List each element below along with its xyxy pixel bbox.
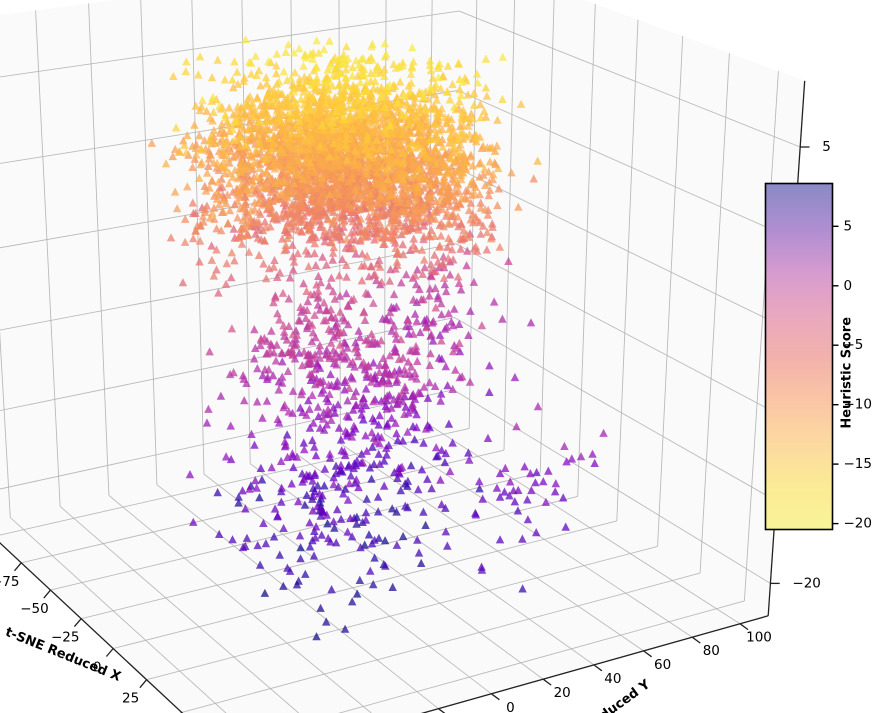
y-tick-label: 40 (604, 671, 621, 687)
x-tick-label: 25 (122, 691, 139, 707)
axis-tick (140, 680, 147, 688)
colorbar-gradient (766, 184, 833, 530)
z-tick-label: −20 (792, 575, 821, 591)
colorbar-tick-label: −20 (844, 516, 873, 532)
colorbar-tick-label: −15 (844, 456, 873, 472)
axis-tick (106, 649, 113, 657)
z-tick-label: 5 (822, 139, 831, 155)
x-tick-label: −75 (0, 574, 19, 590)
axis-tick (15, 563, 22, 571)
colorbar[interactable]: 50−5−10−15−20 (766, 184, 873, 532)
axis-tick (692, 637, 700, 643)
colorbar-tick-label: −5 (844, 337, 864, 353)
colorbar-tick-label: 0 (844, 278, 853, 294)
y-tick-label: 60 (654, 657, 671, 673)
axis-tick (543, 679, 551, 685)
colorbar-tick-label: 5 (844, 218, 853, 234)
colorbar-ticks (833, 226, 839, 523)
axis-tick (44, 590, 51, 598)
axis-tick (74, 619, 81, 627)
y-tick-label: 100 (746, 630, 772, 646)
axis-tick (491, 694, 499, 700)
scatter3d-plot[interactable]: −100−75−50−250255075−80−60−40−2002040608… (0, 0, 883, 713)
y-tick-label: 80 (703, 643, 720, 659)
figure-canvas: −100−75−50−250255075−80−60−40−2002040608… (0, 0, 883, 713)
axis-tick (439, 709, 447, 713)
x-tick-label: −50 (20, 601, 49, 617)
y-tick-label: 20 (554, 685, 571, 701)
axis-tick (644, 651, 652, 657)
colorbar-tick-label: −10 (844, 397, 873, 413)
axis-tick (594, 665, 602, 671)
y-tick-label: 0 (506, 700, 515, 713)
